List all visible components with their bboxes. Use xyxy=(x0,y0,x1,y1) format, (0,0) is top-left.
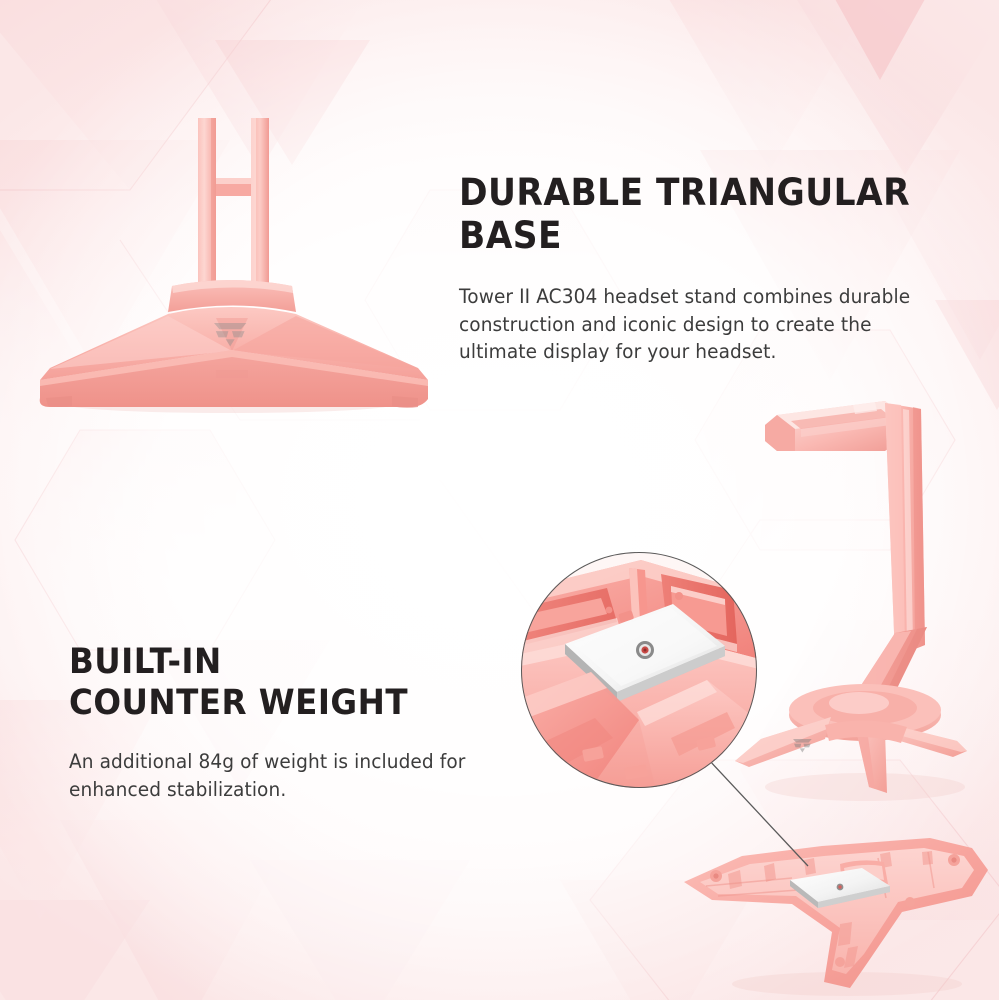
heading-line-2: COUNTER WEIGHT xyxy=(69,683,506,724)
product-image-triangular-base xyxy=(20,118,440,418)
feature-heading-triangular-base: DURABLE TRIANGULAR BASE xyxy=(459,172,924,258)
feature-body-counter-weight: An additional 84g of weight is included … xyxy=(69,748,506,803)
infographic-canvas: DURABLE TRIANGULAR BASE Tower II AC304 h… xyxy=(0,0,999,1000)
heading-line-2: BASE xyxy=(459,215,924,258)
feature-body-triangular-base: Tower II AC304 headset stand combines du… xyxy=(459,283,925,366)
feature-heading-counter-weight: BUILT-IN COUNTER WEIGHT xyxy=(69,642,506,723)
magnifier-content xyxy=(521,552,757,788)
magnified-counterweight-detail xyxy=(521,552,757,788)
heading-line-1: DURABLE TRIANGULAR xyxy=(459,172,924,215)
heading-line-1: BUILT-IN xyxy=(69,642,506,683)
